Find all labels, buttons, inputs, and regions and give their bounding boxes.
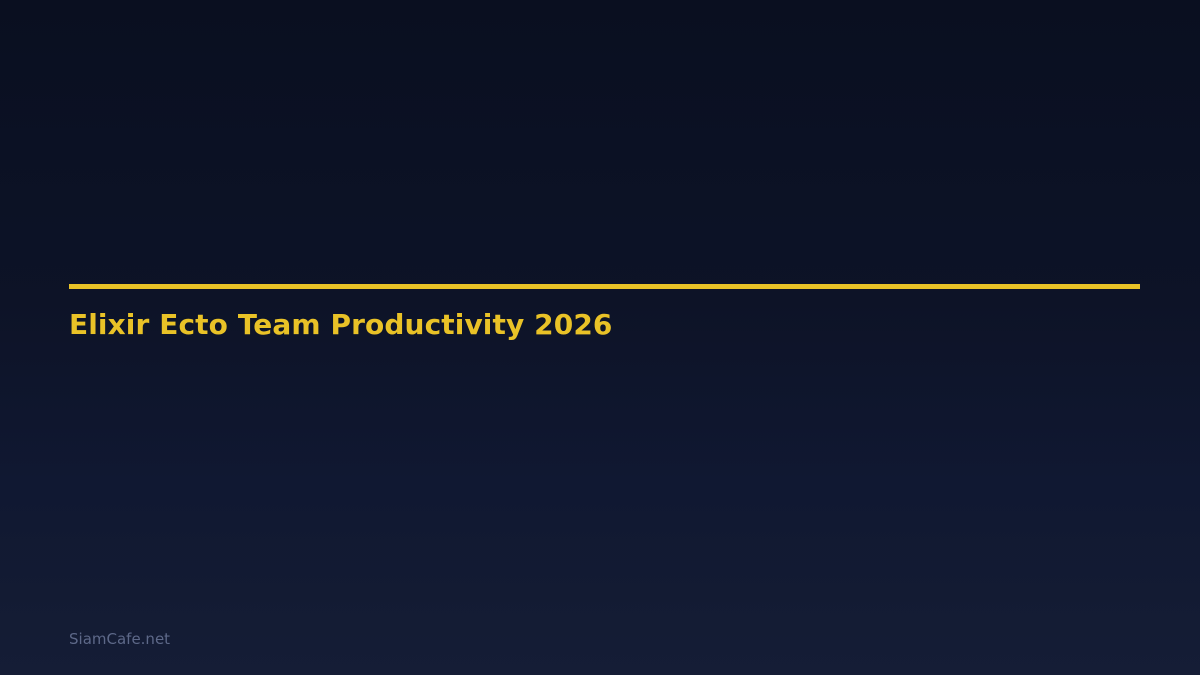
title-slide: Elixir Ecto Team Productivity 2026 SiamC… bbox=[0, 0, 1200, 675]
title-block: Elixir Ecto Team Productivity 2026 bbox=[69, 284, 1140, 289]
footer-brand-label: SiamCafe.net bbox=[69, 630, 170, 650]
accent-rule-divider bbox=[69, 284, 1140, 289]
page-title: Elixir Ecto Team Productivity 2026 bbox=[69, 308, 613, 342]
